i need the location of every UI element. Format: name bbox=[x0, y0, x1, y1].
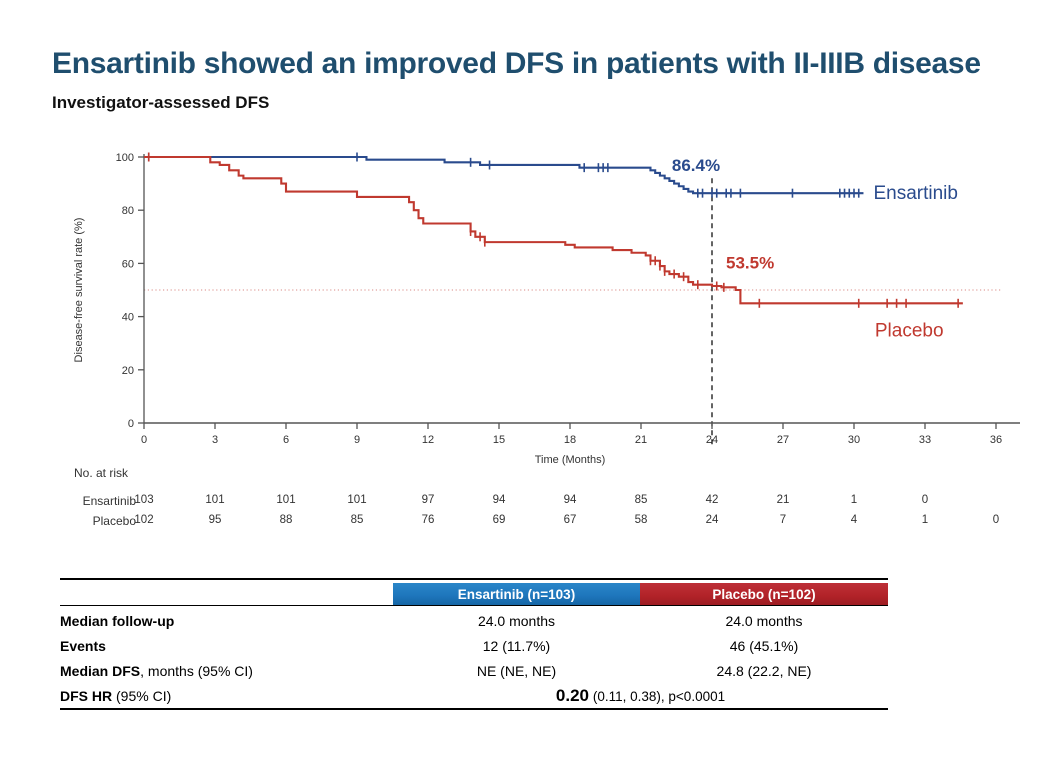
series-line-ensartinib bbox=[144, 157, 863, 193]
x-tick-label: 9 bbox=[354, 434, 360, 446]
summary-header-row: Ensartinib (n=103) Placebo (n=102) bbox=[60, 583, 888, 606]
summary-cell-ensartinib: 12 (11.7%) bbox=[393, 633, 640, 658]
x-tick-label: 33 bbox=[919, 434, 931, 446]
risk-cell: 58 bbox=[624, 514, 658, 526]
y-tick-label: 60 bbox=[122, 258, 134, 270]
risk-cell: 85 bbox=[624, 494, 658, 506]
x-tick-label: 0 bbox=[141, 434, 147, 446]
summary-row: DFS HR (95% CI)0.20 (0.11, 0.38), p<0.00… bbox=[60, 683, 888, 709]
x-tick-label: 27 bbox=[777, 434, 789, 446]
summary-row-label-main: DFS HR bbox=[60, 688, 112, 704]
summary-cell-placebo: 24.0 months bbox=[640, 608, 888, 633]
summary-row-label-main: Median DFS bbox=[60, 663, 140, 679]
x-tick-label: 36 bbox=[990, 434, 1002, 446]
summary-bottom-rule bbox=[60, 709, 888, 712]
summary-row-label: Median DFS, months (95% CI) bbox=[60, 658, 393, 683]
risk-table: No. at risk Ensartinib103101101101979494… bbox=[60, 462, 1020, 552]
x-tick-label: 3 bbox=[212, 434, 218, 446]
risk-cell: 95 bbox=[198, 514, 232, 526]
risk-cell: 69 bbox=[482, 514, 516, 526]
summary-header-ensartinib: Ensartinib (n=103) bbox=[393, 583, 640, 606]
y-tick-label: 100 bbox=[116, 152, 134, 164]
y-tick-label: 80 bbox=[122, 205, 134, 217]
hr-value: 0.20 bbox=[556, 686, 589, 705]
risk-cell: 97 bbox=[411, 494, 445, 506]
risk-table-caption: No. at risk bbox=[74, 466, 128, 480]
risk-cell: 102 bbox=[127, 514, 161, 526]
risk-cell: 101 bbox=[269, 494, 303, 506]
risk-cell: 0 bbox=[979, 514, 1013, 526]
x-tick-label: 24 bbox=[706, 434, 718, 446]
series-label-placebo: Placebo bbox=[875, 320, 944, 341]
summary-row: Events12 (11.7%)46 (45.1%) bbox=[60, 633, 888, 658]
risk-cell: 42 bbox=[695, 494, 729, 506]
summary-row-label-sub: , months (95% CI) bbox=[140, 663, 253, 679]
risk-cell: 24 bbox=[695, 514, 729, 526]
y-tick-label: 40 bbox=[122, 312, 134, 324]
summary-cell-placebo: 46 (45.1%) bbox=[640, 633, 888, 658]
y-axis-title: Disease-free survival rate (%) bbox=[73, 218, 85, 363]
risk-cell: 1 bbox=[837, 494, 871, 506]
risk-cell: 94 bbox=[482, 494, 516, 506]
x-tick-label: 21 bbox=[635, 434, 647, 446]
x-tick-label: 12 bbox=[422, 434, 434, 446]
risk-cell: 7 bbox=[766, 514, 800, 526]
hr-ci-pvalue: (0.11, 0.38), p<0.0001 bbox=[593, 689, 725, 704]
risk-row-label-ensartinib: Ensartinib bbox=[60, 494, 136, 508]
summary-table-grid: Ensartinib (n=103) Placebo (n=102) Media… bbox=[60, 578, 888, 712]
summary-row-label-main: Median follow-up bbox=[60, 613, 174, 629]
summary-row-label: Events bbox=[60, 633, 393, 658]
kaplan-meier-chart: 0204060801000369121518212427303336Time (… bbox=[60, 130, 1020, 480]
series-line-placebo bbox=[144, 157, 963, 303]
risk-cell: 85 bbox=[340, 514, 374, 526]
risk-cell: 101 bbox=[340, 494, 374, 506]
annotation-ensartinib: 86.4% bbox=[672, 156, 720, 175]
risk-cell: 76 bbox=[411, 514, 445, 526]
x-tick-label: 6 bbox=[283, 434, 289, 446]
risk-row-label-placebo: Placebo bbox=[60, 514, 136, 528]
y-tick-label: 0 bbox=[128, 418, 134, 430]
risk-cell: 103 bbox=[127, 494, 161, 506]
risk-cell: 101 bbox=[198, 494, 232, 506]
summary-row-label-main: Events bbox=[60, 638, 106, 654]
x-tick-label: 30 bbox=[848, 434, 860, 446]
summary-row-label-sub: (95% CI) bbox=[112, 688, 171, 704]
risk-cell: 88 bbox=[269, 514, 303, 526]
summary-table-body: Median follow-up24.0 months24.0 monthsEv… bbox=[60, 608, 888, 709]
risk-cell: 21 bbox=[766, 494, 800, 506]
chart-svg: 0204060801000369121518212427303336Time (… bbox=[60, 130, 1020, 480]
risk-cell: 1 bbox=[908, 514, 942, 526]
page-subtitle: Investigator-assessed DFS bbox=[52, 93, 269, 113]
page-title: Ensartinib showed an improved DFS in pat… bbox=[52, 47, 981, 81]
summary-row-label: Median follow-up bbox=[60, 608, 393, 633]
risk-cell: 0 bbox=[908, 494, 942, 506]
annotation-placebo: 53.5% bbox=[726, 254, 774, 273]
risk-cell: 67 bbox=[553, 514, 587, 526]
risk-cell: 4 bbox=[837, 514, 871, 526]
summary-header-placebo: Placebo (n=102) bbox=[640, 583, 888, 606]
summary-cell-placebo: 24.8 (22.2, NE) bbox=[640, 658, 888, 683]
summary-hr-cell: 0.20 (0.11, 0.38), p<0.0001 bbox=[393, 683, 888, 709]
y-tick-label: 20 bbox=[122, 365, 134, 377]
summary-table: Ensartinib (n=103) Placebo (n=102) Media… bbox=[60, 578, 888, 712]
slide-root: Ensartinib showed an improved DFS in pat… bbox=[0, 0, 1041, 779]
x-tick-label: 18 bbox=[564, 434, 576, 446]
x-tick-label: 15 bbox=[493, 434, 505, 446]
summary-row: Median DFS, months (95% CI)NE (NE, NE)24… bbox=[60, 658, 888, 683]
summary-row-label: DFS HR (95% CI) bbox=[60, 683, 393, 709]
summary-row: Median follow-up24.0 months24.0 months bbox=[60, 608, 888, 633]
risk-cell: 94 bbox=[553, 494, 587, 506]
summary-cell-ensartinib: NE (NE, NE) bbox=[393, 658, 640, 683]
summary-cell-ensartinib: 24.0 months bbox=[393, 608, 640, 633]
summary-header-blank bbox=[60, 583, 393, 606]
series-label-ensartinib: Ensartinib bbox=[873, 183, 958, 204]
